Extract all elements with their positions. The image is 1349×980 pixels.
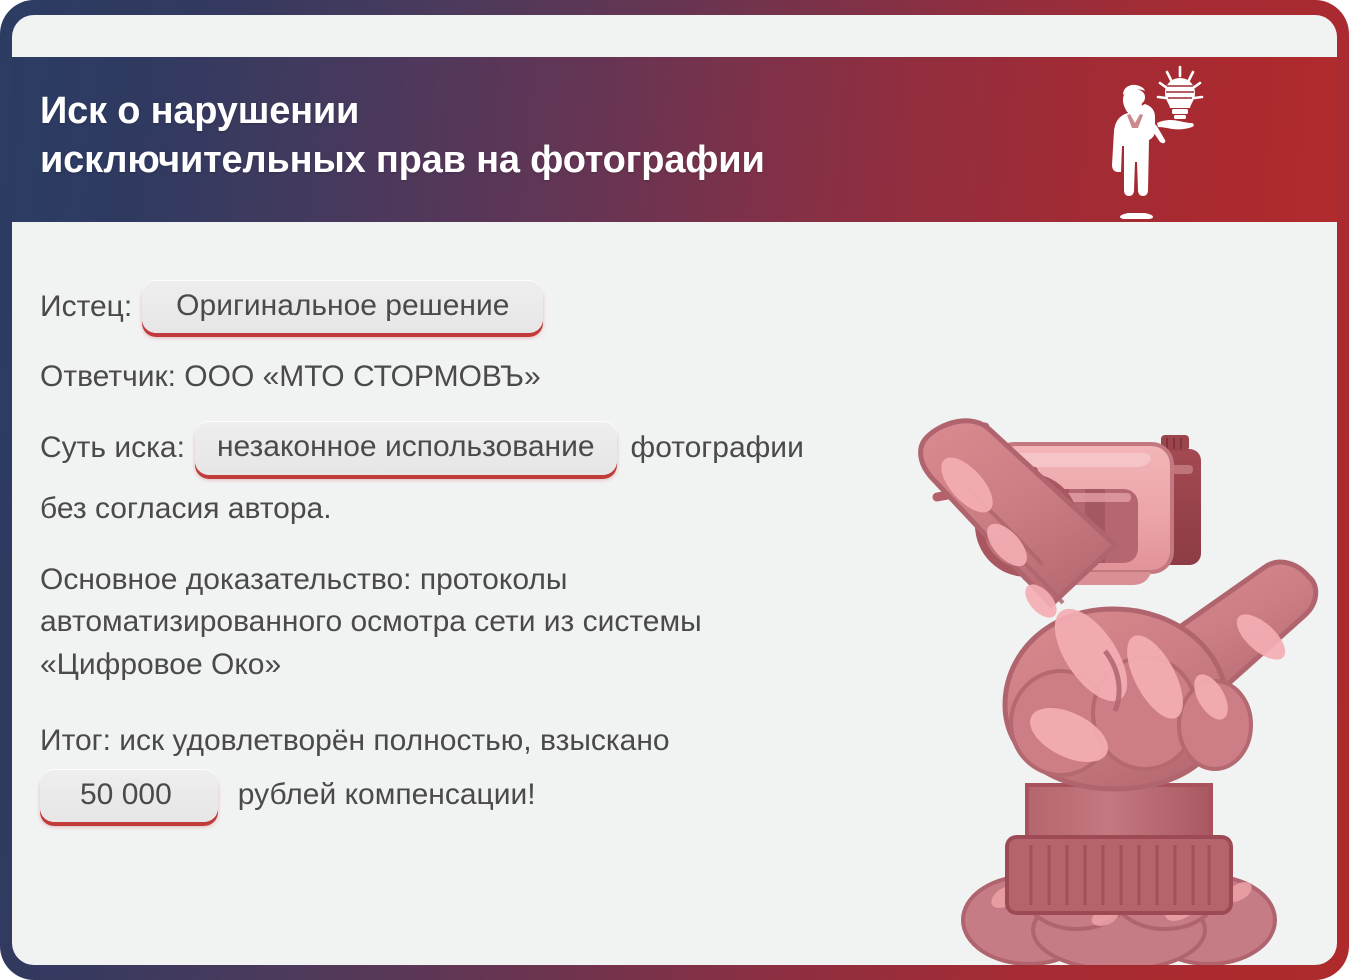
camera-icon bbox=[975, 435, 1201, 585]
page-title: Иск о нарушении исключительных прав на ф… bbox=[40, 87, 765, 184]
claim-highlight-pill[interactable]: незаконное использование bbox=[195, 421, 617, 474]
evidence-text: Основное доказательство: протоколы автом… bbox=[40, 559, 980, 687]
claim-label: Суть иска: bbox=[40, 430, 185, 466]
claim-continuation-row: без согласия автора. bbox=[40, 491, 980, 527]
outcome-row: Итог: иск удовлетворён полностью, взыска… bbox=[40, 723, 980, 759]
defendant-text: Ответчик: ООО «МТО СТОРМОВЪ» bbox=[40, 360, 541, 393]
claim-continuation-text: без согласия автора. bbox=[40, 492, 332, 525]
plaintiff-value-pill[interactable]: Оригинальное решение bbox=[142, 280, 543, 333]
info-card: Иск о нарушении исключительных прав на ф… bbox=[12, 15, 1337, 965]
card-body: Истец: Оригинальное решение Ответчик: ОО… bbox=[12, 222, 1337, 965]
compensation-amount-pill[interactable]: 50 000 bbox=[40, 769, 218, 822]
claim-subject-row: Суть иска: незаконное использование фото… bbox=[40, 421, 980, 474]
compensation-suffix-text: рублей компенсации! bbox=[238, 778, 536, 812]
plaintiff-label: Истец: bbox=[40, 289, 132, 325]
plaintiff-row: Истец: Оригинальное решение bbox=[40, 280, 980, 333]
outer-frame: Иск о нарушении исключительных прав на ф… bbox=[0, 0, 1349, 980]
outcome-text: Итог: иск удовлетворён полностью, взыска… bbox=[40, 724, 670, 757]
businessman-with-lightbulb-icon bbox=[1095, 61, 1215, 221]
claim-tail-text: фотографии bbox=[631, 430, 804, 466]
claim-summary: Истец: Оригинальное решение Ответчик: ОО… bbox=[40, 280, 980, 822]
card-header: Иск о нарушении исключительных прав на ф… bbox=[12, 57, 1337, 222]
compensation-row: 50 000 рублей компенсации! bbox=[40, 769, 980, 822]
defendant-row: Ответчик: ООО «МТО СТОРМОВЪ» bbox=[40, 359, 980, 395]
evidence-row: Основное доказательство: протоколы автом… bbox=[40, 559, 980, 687]
